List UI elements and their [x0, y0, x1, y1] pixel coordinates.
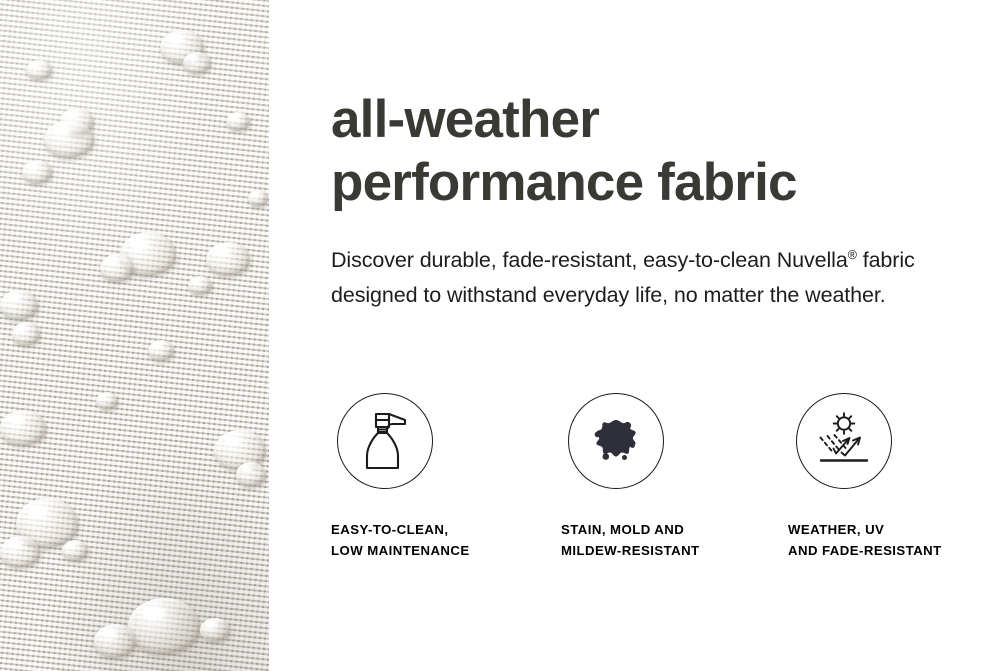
subcopy-brand: Nuvella	[777, 248, 848, 272]
feature-item: EASY-TO-CLEAN, LOW MAINTENANCE	[331, 393, 561, 562]
feature-caption: EASY-TO-CLEAN, LOW MAINTENANCE	[331, 519, 470, 562]
fabric-photo	[0, 0, 269, 671]
registered-mark: ®	[848, 248, 857, 262]
feature-caption: STAIN, MOLD AND MILDEW-RESISTANT	[561, 519, 700, 562]
feature-item: WEATHER, UV AND FADE-RESISTANT	[788, 393, 991, 562]
feature-item: STAIN, MOLD AND MILDEW-RESISTANT	[561, 393, 788, 562]
subcopy-line-3: no matter the weather.	[674, 283, 886, 307]
subcopy-line-1: Discover durable, fade-resistant, easy-t…	[331, 248, 771, 272]
subcopy: Discover durable, fade-resistant, easy-t…	[331, 243, 951, 313]
fabric-weave-texture	[0, 0, 269, 671]
content-panel: all-weather performance fabric Discover …	[269, 0, 1005, 671]
page-title: all-weather performance fabric	[331, 88, 971, 214]
spray-bottle-icon	[356, 409, 414, 473]
feature-list: EASY-TO-CLEAN, LOW MAINTENANCE	[331, 393, 991, 562]
all-weather-fabric-banner: all-weather performance fabric Discover …	[0, 0, 1005, 671]
sun-uv-reflect-icon	[813, 410, 875, 472]
feature-caption: WEATHER, UV AND FADE-RESISTANT	[788, 519, 942, 562]
feature-icon-circle	[337, 393, 433, 489]
stain-splat-icon	[585, 410, 647, 472]
feature-icon-circle	[568, 393, 664, 489]
feature-icon-circle	[796, 393, 892, 489]
